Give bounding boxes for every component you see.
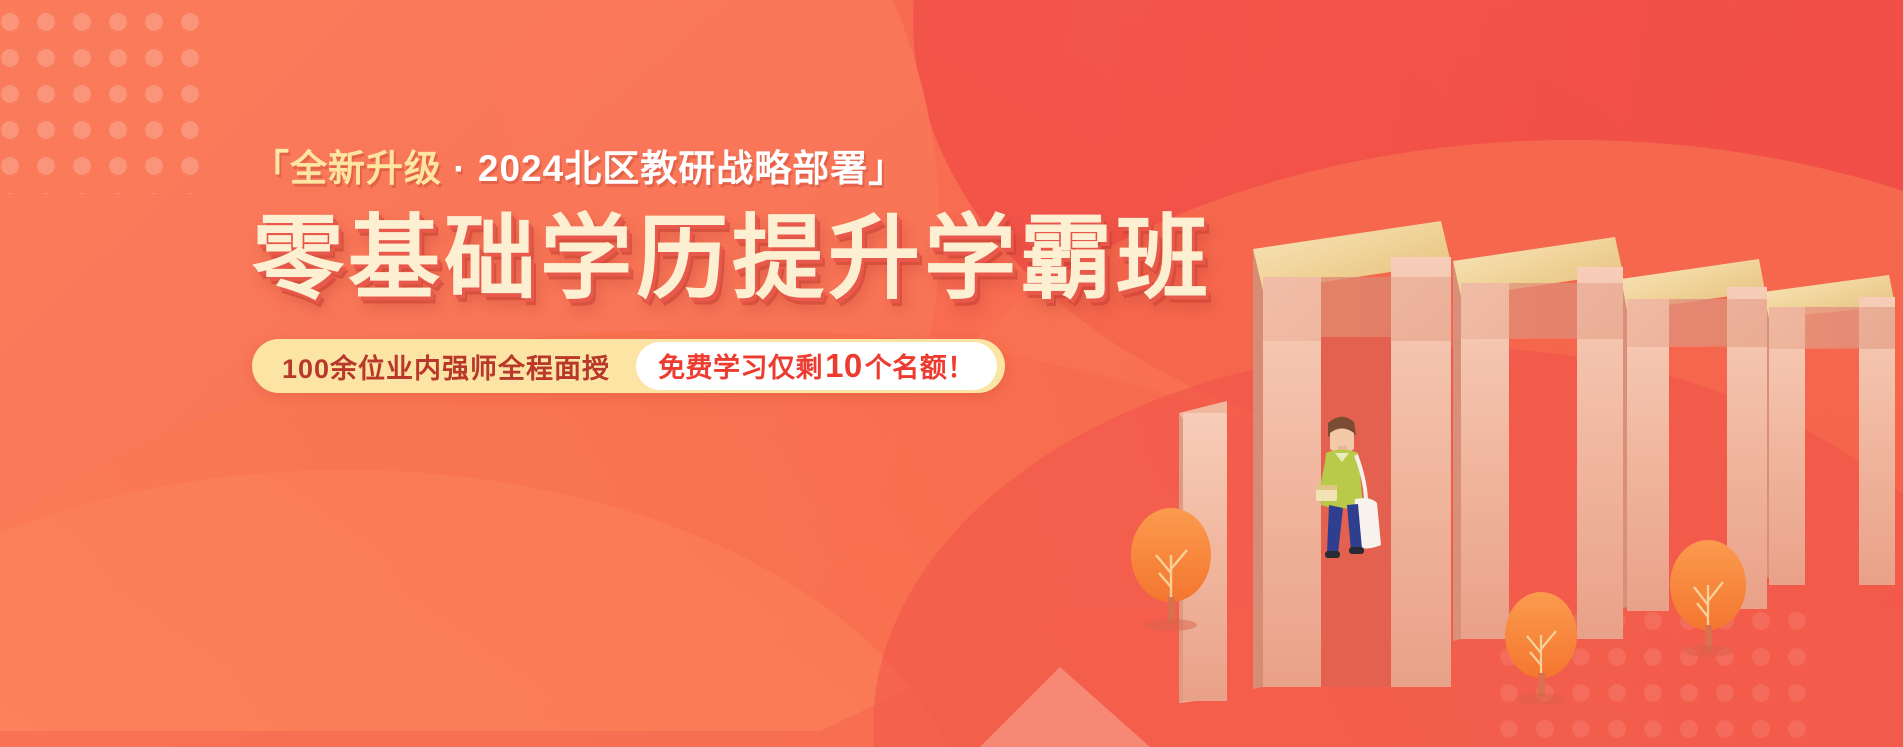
subtitle-separator: ·: [442, 148, 478, 189]
book-arch-4: [1763, 275, 1895, 585]
front-pillar: [1179, 401, 1227, 703]
seats-remaining-badge: 免费学习仅剩10个名额！: [636, 342, 997, 390]
banner-copy: 「全新升级 · 2024北区教研战略部署」 零基础学历提升学霸班 100余位业内…: [252, 150, 1212, 393]
student-figure: [1316, 417, 1381, 558]
books-archway-illustration: [1123, 187, 1903, 747]
book-arch-2: [1453, 237, 1623, 641]
background-swoosh-bottom-left: [0, 470, 970, 747]
book-arch-3: [1621, 259, 1767, 611]
promo-pill-left-label: 100余位业内强师全程面授: [282, 347, 636, 386]
badge-seat-count: 10: [823, 342, 865, 390]
tree-right: [1670, 540, 1746, 657]
subtitle-highlight: 全新升级: [290, 148, 442, 189]
promo-pill: 100余位业内强师全程面授 免费学习仅剩10个名额！: [252, 339, 1005, 393]
banner-subtitle: 「全新升级 · 2024北区教研战略部署」: [252, 150, 1212, 187]
tree-left: [1131, 508, 1211, 631]
book-arch-1: [1253, 221, 1451, 689]
subtitle-open-bracket: 「: [252, 148, 290, 189]
dot-grid-top-left-icon: [0, 4, 208, 194]
badge-prefix: 免费学习仅剩: [658, 344, 823, 392]
tree-middle: [1505, 592, 1577, 705]
ground-slope: [0, 517, 1903, 747]
badge-suffix: 个名额！: [865, 344, 975, 392]
subtitle-white-text: 2024北区教研战略部署: [478, 148, 868, 189]
promo-banner: 「全新升级 · 2024北区教研战略部署」 零基础学历提升学霸班 100余位业内…: [0, 0, 1903, 747]
banner-headline: 零基础学历提升学霸班: [252, 213, 1212, 305]
background-swoosh-bottom-right: [873, 347, 1903, 747]
subtitle-close-bracket: 」: [868, 148, 906, 189]
dot-grid-bottom-right-icon: [1491, 603, 1821, 747]
